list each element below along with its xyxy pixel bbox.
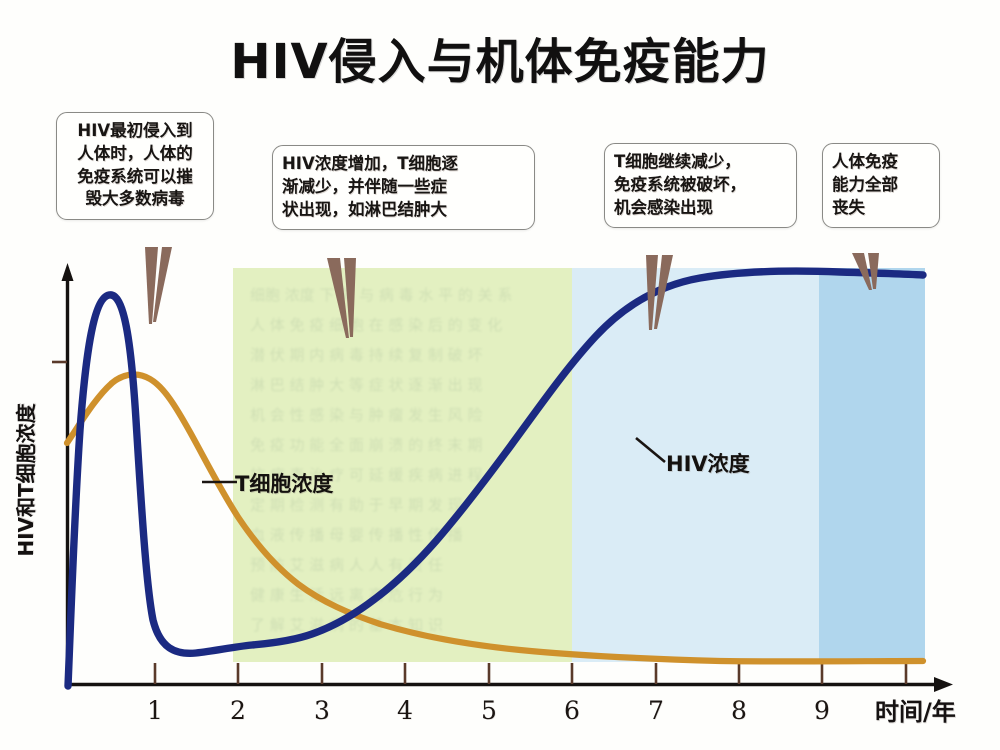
callout-stage-1[interactable]: HIV最初侵入到 人体时，人体的 免疫系统可以摧 毁大多数病毒 [56, 112, 214, 220]
callout-stage-4[interactable]: 人体免疫 能力全部 丧失 [822, 143, 940, 228]
callout-stage-3[interactable]: T细胞继续减少， 免疫系统被破坏， 机会感染出现 [604, 143, 797, 228]
callout-3-tail [646, 255, 673, 330]
callout-1-tail [145, 247, 172, 324]
chart-canvas: HIV侵入与机体免疫能力 细胞 浓度 下 降 与 病 毒 水 平 的 关 系 人… [0, 0, 1000, 750]
callout-stage-2[interactable]: HIV浓度增加，T细胞逐 渐减少，并伴随一些症 状出现，如淋巴结肿大 [272, 145, 535, 230]
callout-4-tail [852, 253, 879, 290]
callout-2-tail [327, 258, 356, 338]
